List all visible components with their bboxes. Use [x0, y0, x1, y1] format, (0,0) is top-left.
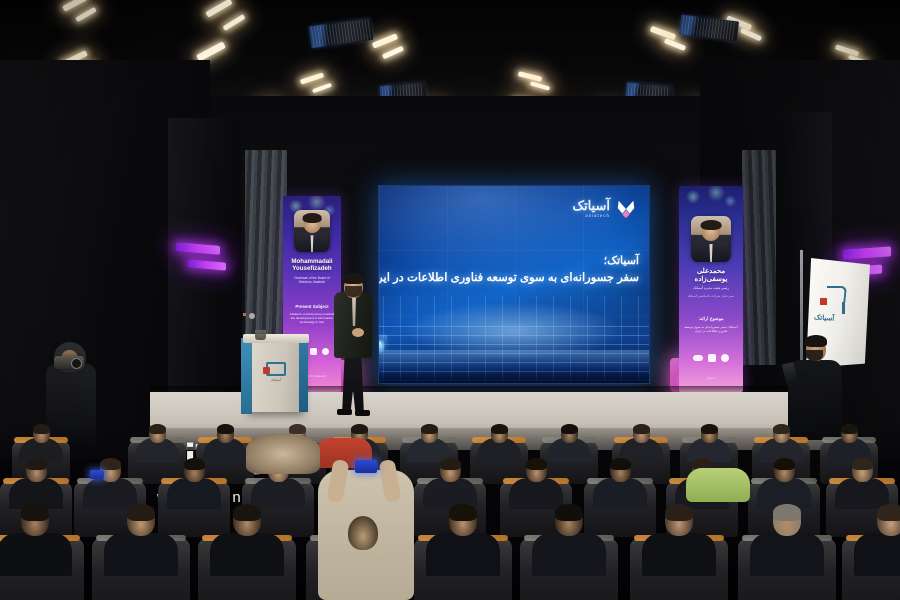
speaker-hands — [352, 328, 364, 337]
podium-logo-text: آسیاتک — [258, 378, 294, 382]
banner-right-name: محمدعلی یوسفی‌زاده — [682, 268, 740, 284]
flower-bouquet — [243, 313, 279, 339]
attendee-hair — [21, 504, 49, 521]
banner-left-name: Mohammadali Yousefizadeh — [286, 258, 338, 272]
asiatech-hook-logo-icon — [820, 286, 850, 312]
podium-side-panel-right — [299, 340, 308, 412]
cityscape-gridline — [379, 326, 649, 327]
attendee-hair — [701, 424, 718, 434]
screen-cityscape-graphic — [379, 296, 649, 383]
attendee-hair — [33, 424, 50, 434]
attendee-hair — [610, 458, 631, 470]
instagram-icon — [310, 348, 317, 355]
roll-up-banner-right: محمدعلی یوسفی‌زاده رئیس هیئت مدیره آسیات… — [679, 186, 743, 392]
portrait-hair — [303, 213, 322, 222]
attendee-hair — [351, 424, 368, 434]
banner-right-subject-text: آسیاتک؛ سفر جسورانه‌ای به سوی توسعه فناو… — [684, 325, 738, 333]
attendee-shoulders — [83, 478, 138, 509]
speaker-shoe-right — [355, 410, 370, 416]
screen-title-block: آسیاتک؛ سفر جسورانه‌ای به سوی توسعه فناو… — [387, 254, 639, 287]
screen-title-line2: سفر جسورانه‌ای به سوی توسعه فناوری اطلاع… — [387, 271, 639, 287]
telegram-icon — [721, 354, 729, 362]
podium-side-panel-left — [241, 338, 252, 414]
asiatech-podium-logo-icon — [266, 362, 286, 376]
speaker-beard — [345, 286, 362, 297]
attendee-shoulders — [104, 533, 178, 576]
telegram-icon — [322, 348, 329, 355]
attendee-shoulders — [251, 478, 306, 509]
attendee-hair — [665, 504, 693, 521]
banner-right-social-row — [679, 354, 743, 362]
banner-right-role2: مدیرعامل شرکت داده‌گستر آسیاتک — [683, 294, 739, 298]
attendee-hair — [877, 504, 900, 521]
attendee-shoulders — [509, 478, 564, 509]
cloud-icon — [693, 355, 703, 361]
attendee-shoulders — [835, 478, 890, 509]
podium-logo: آسیاتک — [258, 362, 294, 382]
cameraman-hair — [805, 335, 827, 347]
banner-right-portrait — [691, 216, 731, 262]
attendee-shoulders — [426, 533, 500, 576]
attendee-hair — [491, 424, 508, 434]
banner-right-subject-label: موضوع ارائه: — [684, 316, 738, 322]
attendee-hair — [774, 458, 795, 470]
banner-right-role: رئیس هیئت مدیره آسیاتک — [683, 286, 739, 290]
raised-phone-screen — [355, 460, 377, 473]
cityscape-gridline — [379, 344, 649, 345]
stage-curtain-right — [742, 150, 776, 365]
led-stage-screen: آسیاتک asiatech آسیاتک؛ سفر جسورانه‌ای ب… — [378, 185, 650, 384]
attendee-hair — [149, 424, 166, 434]
asiatech-logo: آسیاتک asiatech — [572, 198, 637, 220]
banner-left-subject-label: Present Subject — [288, 304, 336, 310]
attendee-shoulders — [210, 533, 284, 576]
attendee-hair — [773, 504, 801, 521]
event-photo-scene: آسیاتک asiatech آسیاتک؛ سفر جسورانه‌ای ب… — [0, 0, 900, 600]
attendee-hair — [841, 424, 858, 434]
attendee-hair — [633, 424, 650, 434]
cityscape-building — [379, 342, 381, 350]
attendee-hair — [184, 458, 205, 470]
cityscape-reflection — [379, 350, 649, 383]
asiatech-x-logo-icon — [615, 198, 637, 220]
attendee-hair — [440, 458, 461, 470]
attendee-shoulders — [750, 533, 824, 576]
attendee-hair — [555, 504, 583, 521]
banner-left-role: Chairman of the Board of Directors, Asia… — [287, 276, 337, 284]
speaker-shoe-left — [337, 409, 352, 415]
flower — [249, 313, 255, 319]
attendee-shoulders — [532, 533, 606, 576]
attendee-hair — [100, 458, 121, 470]
banner-right-footer: آسیاتک — [679, 376, 743, 380]
attendee-hair — [289, 424, 306, 434]
screen-title-line1: آسیاتک؛ — [387, 254, 639, 268]
attendee-hair — [421, 424, 438, 434]
attendee-hair — [233, 504, 261, 521]
cityscape-gridline — [379, 335, 649, 336]
attendee-shoulders — [593, 478, 648, 509]
attendee-hair — [26, 458, 47, 470]
attendee-head — [348, 516, 378, 550]
attendee-hair — [773, 424, 790, 434]
asiatech-logo-subtext: asiatech — [572, 214, 610, 219]
camera-icon — [54, 356, 84, 369]
raised-phone-screen — [90, 470, 104, 479]
flag-wordmark: آسیاتک — [814, 313, 835, 322]
attendee-fur-hood — [246, 434, 320, 474]
attendee-green-scarf — [686, 468, 750, 502]
attendee-hair — [561, 424, 578, 434]
instagram-icon — [708, 354, 716, 362]
attendee-shoulders — [854, 533, 900, 576]
speaker-hair — [343, 273, 364, 284]
banner-left-portrait — [294, 210, 330, 252]
audience-area — [0, 424, 900, 600]
attendee-shoulders — [167, 478, 222, 509]
attendee-hair — [127, 504, 155, 521]
attendee-hair — [449, 504, 477, 521]
portrait-hair — [701, 220, 722, 230]
cameraman-beard — [806, 350, 823, 361]
banner-left-subject-text: Asiatech, A bold journey towards the dev… — [288, 312, 336, 324]
attendee-shoulders — [642, 533, 716, 576]
attendee-hair — [526, 458, 547, 470]
attendee-hair — [217, 424, 234, 434]
attendee-shoulders — [0, 533, 72, 576]
asiatech-logo-wordmark: آسیاتک asiatech — [572, 199, 610, 219]
flower — [243, 313, 246, 316]
attendee-hair — [852, 458, 873, 470]
